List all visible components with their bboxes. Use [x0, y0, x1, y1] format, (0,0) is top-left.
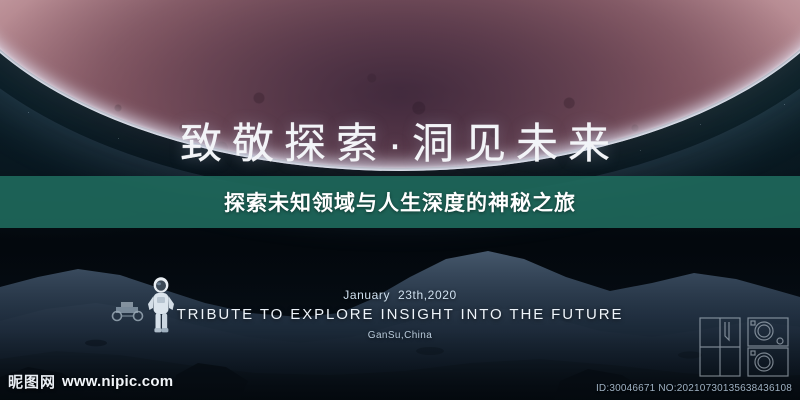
- caption-date: January 23th,2020: [0, 288, 800, 302]
- caption-block: January 23th,2020 TRIBUTE TO EXPLORE INS…: [0, 288, 800, 341]
- subtitle-banner-text: 探索未知领域与人生深度的神秘之旅: [224, 187, 576, 217]
- space-poster: 致敬探索·洞见未来 探索未知领域与人生深度的神秘之旅 January 23th,…: [0, 0, 800, 400]
- asset-id-line: ID:30046671 NO:20210730135638436108: [596, 383, 792, 394]
- caption-tagline: TRIBUTE TO EXPLORE INSIGHT INTO THE FUTU…: [0, 306, 800, 323]
- watermark: 昵图网 www.nipic.com: [8, 371, 173, 392]
- caption-location: GanSu,China: [0, 330, 800, 341]
- page-title: 致敬探索·洞见未来: [0, 110, 800, 171]
- watermark-brand-cn: 昵图网: [8, 371, 56, 392]
- instrument-panels-icon: [698, 316, 790, 378]
- subtitle-banner: 探索未知领域与人生深度的神秘之旅: [0, 176, 800, 228]
- watermark-url: www.nipic.com: [62, 373, 173, 390]
